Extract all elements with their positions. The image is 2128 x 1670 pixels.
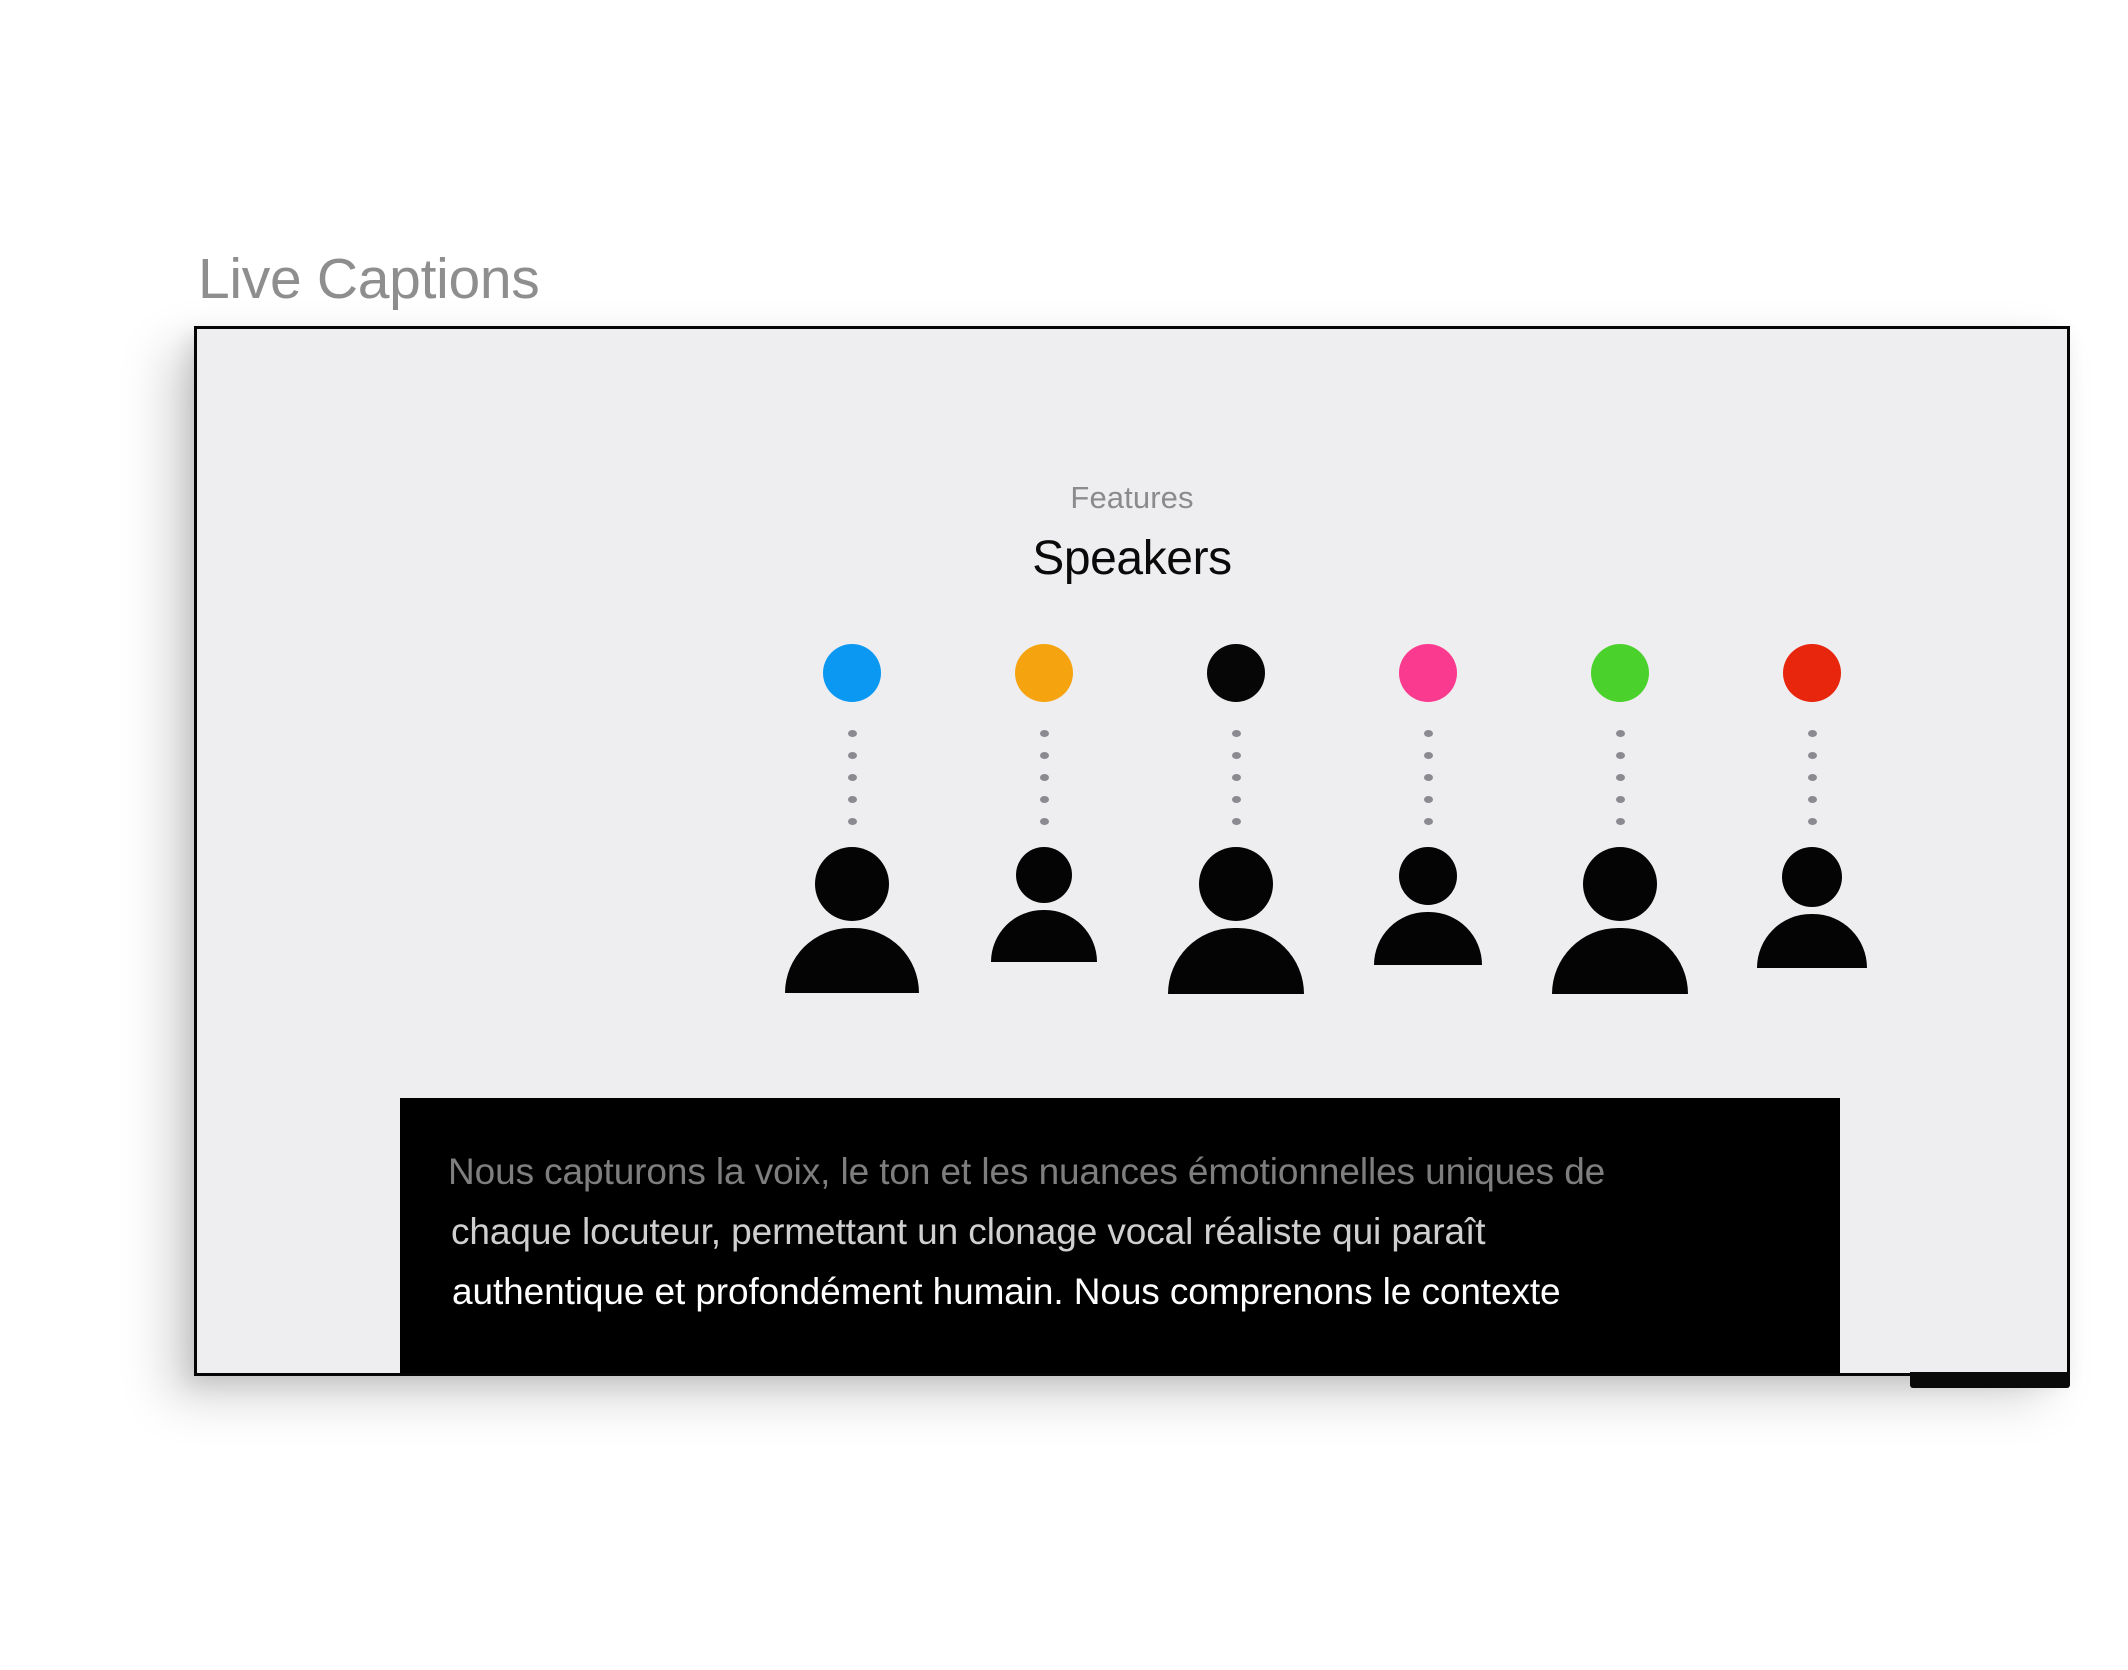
person-icon: [785, 847, 919, 993]
speakers-row: [772, 644, 1892, 994]
connector-dot: [1808, 730, 1817, 737]
page-title: Live Captions: [198, 251, 539, 308]
caption-line-2: chaque locuteur, permettant un clonage v…: [448, 1202, 1792, 1262]
person-icon: [1168, 847, 1304, 994]
person-icon: [1374, 847, 1482, 965]
connector-dot: [1808, 818, 1817, 825]
connector-dot: [1616, 752, 1625, 759]
connector-dot: [1232, 730, 1241, 737]
connector-dot: [848, 752, 857, 759]
connector-dot: [1232, 796, 1241, 803]
connector-dot: [1616, 774, 1625, 781]
speaker-column-1[interactable]: [772, 644, 932, 993]
speaker-column-2[interactable]: [964, 644, 1124, 962]
person-body-icon: [1552, 928, 1688, 994]
speaker-column-4[interactable]: [1348, 644, 1508, 965]
connector-dot: [1616, 730, 1625, 737]
person-head-icon: [1199, 847, 1273, 921]
connector-dot: [1424, 774, 1433, 781]
connector-dot: [1616, 818, 1625, 825]
person-head-icon: [1782, 847, 1842, 907]
speaker-column-6[interactable]: [1732, 644, 1892, 968]
person-head-icon: [1016, 847, 1072, 903]
caption-line-1: Nous capturons la voix, le ton et les nu…: [448, 1142, 1792, 1202]
speaker-color-dot-blue[interactable]: [823, 644, 881, 702]
connector-dot: [848, 730, 857, 737]
speaker-connector-dots: [1808, 730, 1817, 825]
connector-dot: [1424, 730, 1433, 737]
connector-dot: [1808, 774, 1817, 781]
connector-dot: [1424, 818, 1433, 825]
connector-dot: [1040, 752, 1049, 759]
speaker-connector-dots: [1616, 730, 1625, 825]
person-body-icon: [991, 910, 1097, 962]
caption-line-3: authentique et profondément humain. Nous…: [448, 1262, 1792, 1322]
connector-dot: [848, 774, 857, 781]
connector-dot: [1232, 774, 1241, 781]
speaker-column-3[interactable]: [1156, 644, 1316, 994]
connector-dot: [1232, 818, 1241, 825]
person-body-icon: [785, 928, 919, 993]
person-body-icon: [1757, 914, 1867, 968]
connector-dot: [1040, 730, 1049, 737]
speaker-color-dot-red[interactable]: [1783, 644, 1841, 702]
speaker-connector-dots: [1040, 730, 1049, 825]
speaker-color-dot-orange[interactable]: [1015, 644, 1073, 702]
person-icon: [1757, 847, 1867, 968]
person-body-icon: [1168, 928, 1304, 994]
speaker-column-5[interactable]: [1540, 644, 1700, 994]
person-icon: [991, 847, 1097, 962]
connector-dot: [1808, 752, 1817, 759]
presentation-card: Features Speakers Nous capturons la voix…: [194, 326, 2070, 1376]
person-head-icon: [1583, 847, 1657, 921]
connector-dot: [1616, 796, 1625, 803]
live-caption-bar: Nous capturons la voix, le ton et les nu…: [400, 1098, 1840, 1376]
person-body-icon: [1374, 912, 1482, 965]
screen-stand-notch: [1910, 1372, 2070, 1388]
speaker-connector-dots: [1424, 730, 1433, 825]
person-head-icon: [1399, 847, 1457, 905]
person-icon: [1552, 847, 1688, 994]
speaker-color-dot-black[interactable]: [1207, 644, 1265, 702]
connector-dot: [848, 796, 857, 803]
connector-dot: [1232, 752, 1241, 759]
speaker-connector-dots: [848, 730, 857, 825]
connector-dot: [848, 818, 857, 825]
speaker-color-dot-green[interactable]: [1591, 644, 1649, 702]
connector-dot: [1040, 818, 1049, 825]
connector-dot: [1808, 796, 1817, 803]
connector-dot: [1040, 796, 1049, 803]
slide-heading-block: Features Speakers: [197, 479, 2067, 589]
slide-eyebrow: Features: [197, 479, 2067, 516]
connector-dot: [1424, 752, 1433, 759]
connector-dot: [1040, 774, 1049, 781]
slide-headline: Speakers: [197, 529, 2067, 589]
connector-dot: [1424, 796, 1433, 803]
speaker-color-dot-pink[interactable]: [1399, 644, 1457, 702]
speaker-connector-dots: [1232, 730, 1241, 825]
person-head-icon: [815, 847, 889, 921]
